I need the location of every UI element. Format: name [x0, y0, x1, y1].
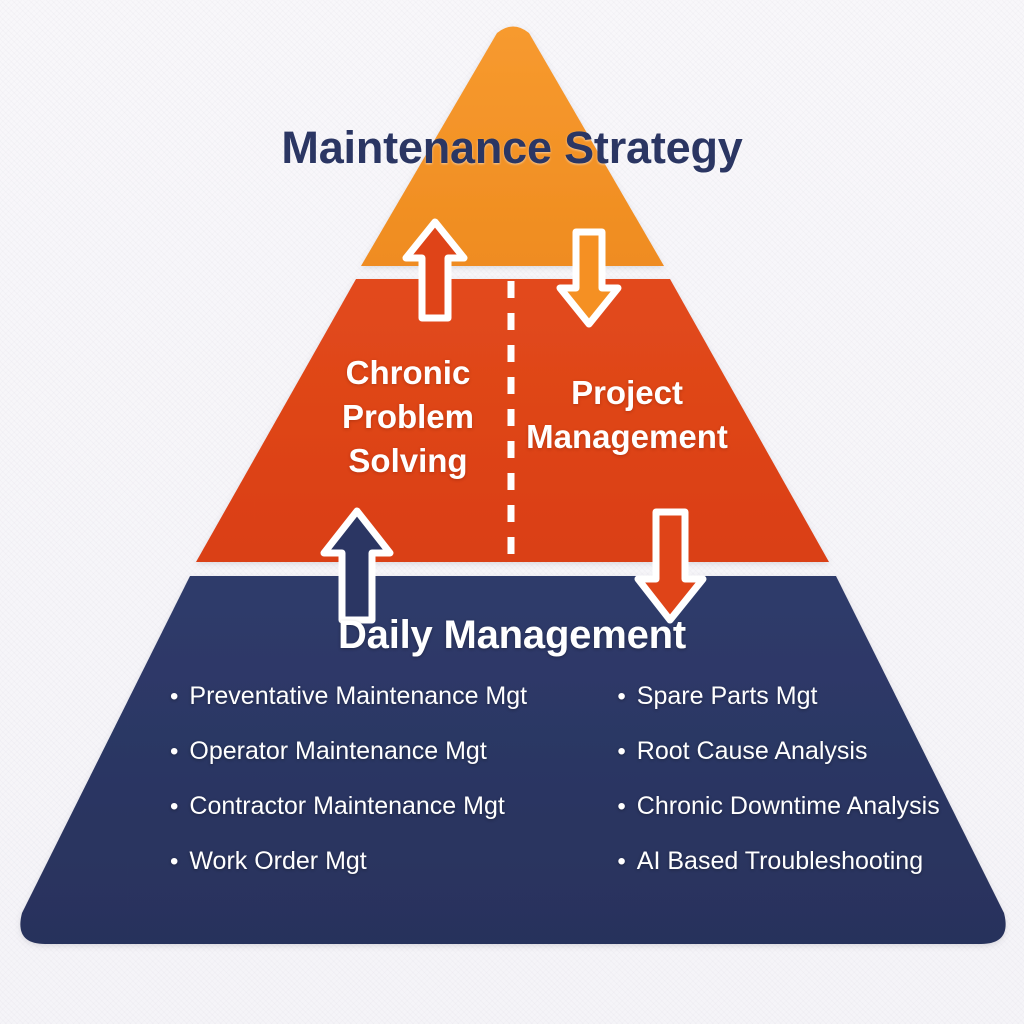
- bullet-dot-icon: •: [617, 850, 625, 874]
- list-item-label: AI Based Troubleshooting: [637, 849, 923, 874]
- label-line: Problem: [300, 395, 516, 439]
- list-item-label: Root Cause Analysis: [637, 739, 868, 764]
- bullet-column-right: • Spare Parts Mgt • Root Cause Analysis …: [617, 684, 970, 904]
- list-item-label: Contractor Maintenance Mgt: [189, 794, 504, 819]
- list-item-label: Operator Maintenance Mgt: [189, 739, 486, 764]
- list-item: • Operator Maintenance Mgt: [170, 739, 581, 794]
- list-item: • Work Order Mgt: [170, 849, 581, 904]
- list-item: • Spare Parts Mgt: [617, 684, 970, 739]
- list-item: • Preventative Maintenance Mgt: [170, 684, 581, 739]
- bullet-dot-icon: •: [170, 850, 178, 874]
- bullet-dot-icon: •: [170, 795, 178, 819]
- label-line: Management: [516, 415, 738, 459]
- label-line: Chronic: [300, 351, 516, 395]
- list-item: • Chronic Downtime Analysis: [617, 794, 970, 849]
- bullet-dot-icon: •: [617, 740, 625, 764]
- list-item-label: Chronic Downtime Analysis: [637, 794, 940, 819]
- tier-middle-label-project-management: Project Management: [516, 371, 738, 459]
- list-item-label: Work Order Mgt: [189, 849, 366, 874]
- list-item: • Contractor Maintenance Mgt: [170, 794, 581, 849]
- tier-middle-label-chronic-problem-solving: Chronic Problem Solving: [300, 351, 516, 484]
- bullet-column-left: • Preventative Maintenance Mgt • Operato…: [170, 684, 581, 904]
- bullet-dot-icon: •: [170, 740, 178, 764]
- bullet-dot-icon: •: [170, 685, 178, 709]
- tier-apex-shape: [361, 27, 664, 267]
- list-item-label: Preventative Maintenance Mgt: [189, 684, 527, 709]
- bullet-dot-icon: •: [617, 685, 625, 709]
- list-item-label: Spare Parts Mgt: [637, 684, 818, 709]
- bullet-dot-icon: •: [617, 795, 625, 819]
- list-item: • AI Based Troubleshooting: [617, 849, 970, 904]
- list-item: • Root Cause Analysis: [617, 739, 970, 794]
- tier-base-bullet-lists: • Preventative Maintenance Mgt • Operato…: [170, 684, 970, 904]
- label-line: Project: [516, 371, 738, 415]
- label-line: Solving: [300, 439, 516, 483]
